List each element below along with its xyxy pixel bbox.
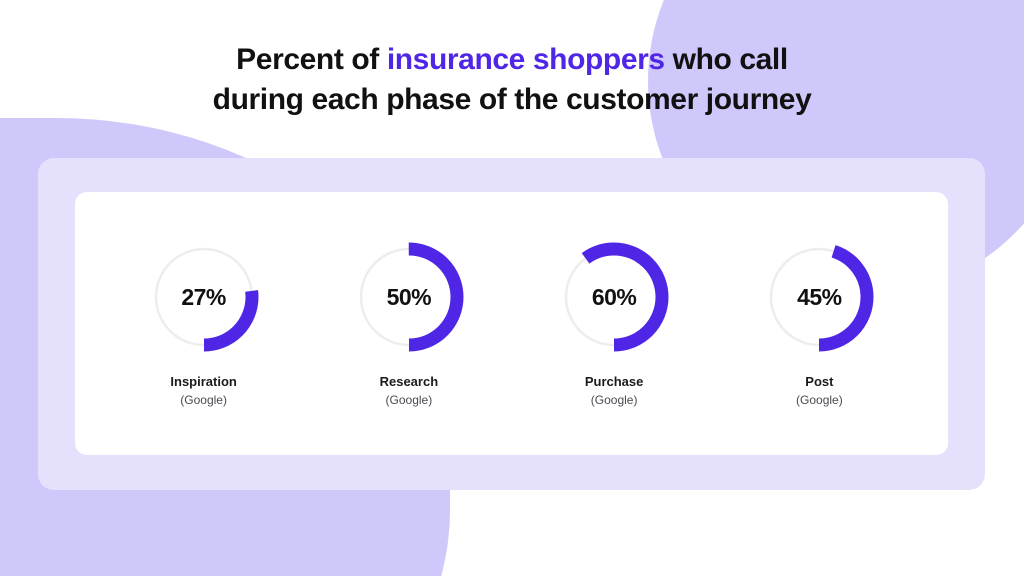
donut-item: 60%Purchase(Google) — [524, 192, 704, 407]
donut-phase-label: Research — [380, 374, 439, 389]
donut-source-label: (Google) — [796, 393, 843, 407]
title-line-1: Percent of insurance shoppers who call — [236, 43, 788, 76]
donut-phase-label: Post — [805, 374, 833, 389]
title-line-2: during each phase of the customer journe… — [213, 83, 812, 116]
donut-ring-purchase: 60% — [554, 237, 674, 357]
donut-value-label: 45% — [759, 237, 879, 357]
title-text-pre: Percent of — [236, 43, 387, 76]
donut-value-label: 60% — [554, 237, 674, 357]
page-title: Percent of insurance shoppers who call d… — [0, 40, 1024, 120]
donut-source-label: (Google) — [386, 393, 433, 407]
title-text-post: who call — [665, 43, 788, 76]
donut-value-label: 50% — [349, 237, 469, 357]
infographic-canvas: Percent of insurance shoppers who call d… — [0, 0, 1024, 576]
donut-phase-label: Purchase — [585, 374, 644, 389]
donut-chart-group: 27%Inspiration(Google)50%Research(Google… — [75, 192, 948, 455]
title-accent-text: insurance shoppers — [387, 43, 665, 76]
donut-ring-post: 45% — [759, 237, 879, 357]
donut-source-label: (Google) — [591, 393, 638, 407]
donut-item: 50%Research(Google) — [319, 192, 499, 407]
donut-phase-label: Inspiration — [170, 374, 236, 389]
donut-item: 45%Post(Google) — [729, 192, 909, 407]
donut-value-label: 27% — [144, 237, 264, 357]
donut-item: 27%Inspiration(Google) — [114, 192, 294, 407]
donut-ring-inspiration: 27% — [144, 237, 264, 357]
donut-ring-research: 50% — [349, 237, 469, 357]
donut-source-label: (Google) — [180, 393, 227, 407]
